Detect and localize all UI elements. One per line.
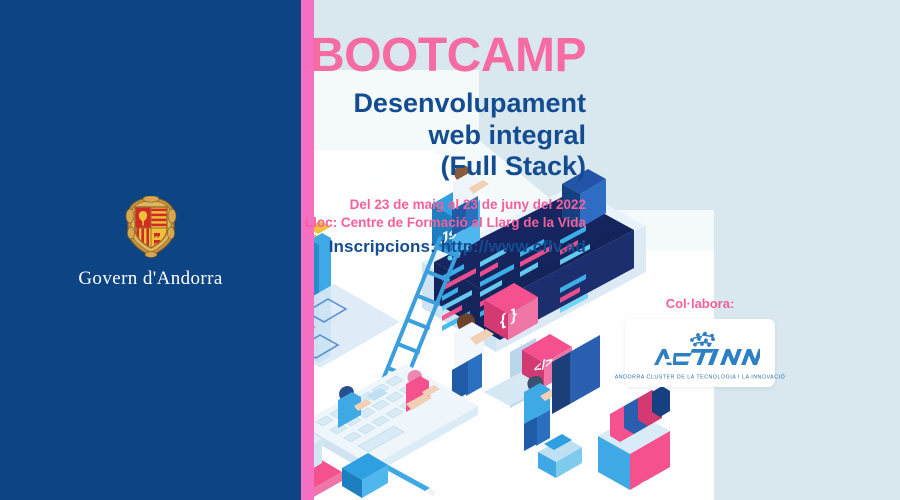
collaborator-logo-card[interactable]: ANDORRA CLUSTER DE LA TECNOLOGIA I LA IN…	[625, 319, 775, 387]
poster-canvas: Govern d'Andorra	[0, 0, 900, 500]
left-brand-panel: Govern d'Andorra	[0, 0, 301, 500]
andorra-coat-of-arms-icon	[125, 196, 177, 258]
registration-link[interactable]: Inscripcions: http://www.cflv.ad	[300, 237, 586, 257]
actinn-logo-icon	[640, 329, 760, 373]
page-subtitle: Desenvolupament web integral (Full Stack…	[300, 88, 586, 183]
event-dates: Del 23 de maig al 23 de juny del 2022	[300, 196, 586, 215]
page-title: BOOTCAMP	[300, 32, 586, 80]
actinn-tagline: ANDORRA CLUSTER DE LA TECNOLOGIA I LA IN…	[615, 374, 785, 380]
government-logo: Govern d'Andorra	[0, 196, 301, 290]
collaborator-label: Col·labora:	[625, 296, 775, 311]
subtitle-line-1: Desenvolupament	[300, 88, 586, 120]
subtitle-line-3: (Full Stack)	[300, 151, 586, 183]
subtitle-line-2: web integral	[300, 120, 586, 152]
event-info-block: Del 23 de maig al 23 de juny del 2022 Ll…	[300, 196, 586, 257]
event-location: Lloc: Centre de Formació al Llarg de la …	[300, 214, 586, 233]
headline-block: BOOTCAMP Desenvolupament web integral (F…	[300, 32, 586, 257]
government-name: Govern d'Andorra	[0, 268, 301, 290]
collaborator-block: Col·labora:	[625, 296, 775, 387]
